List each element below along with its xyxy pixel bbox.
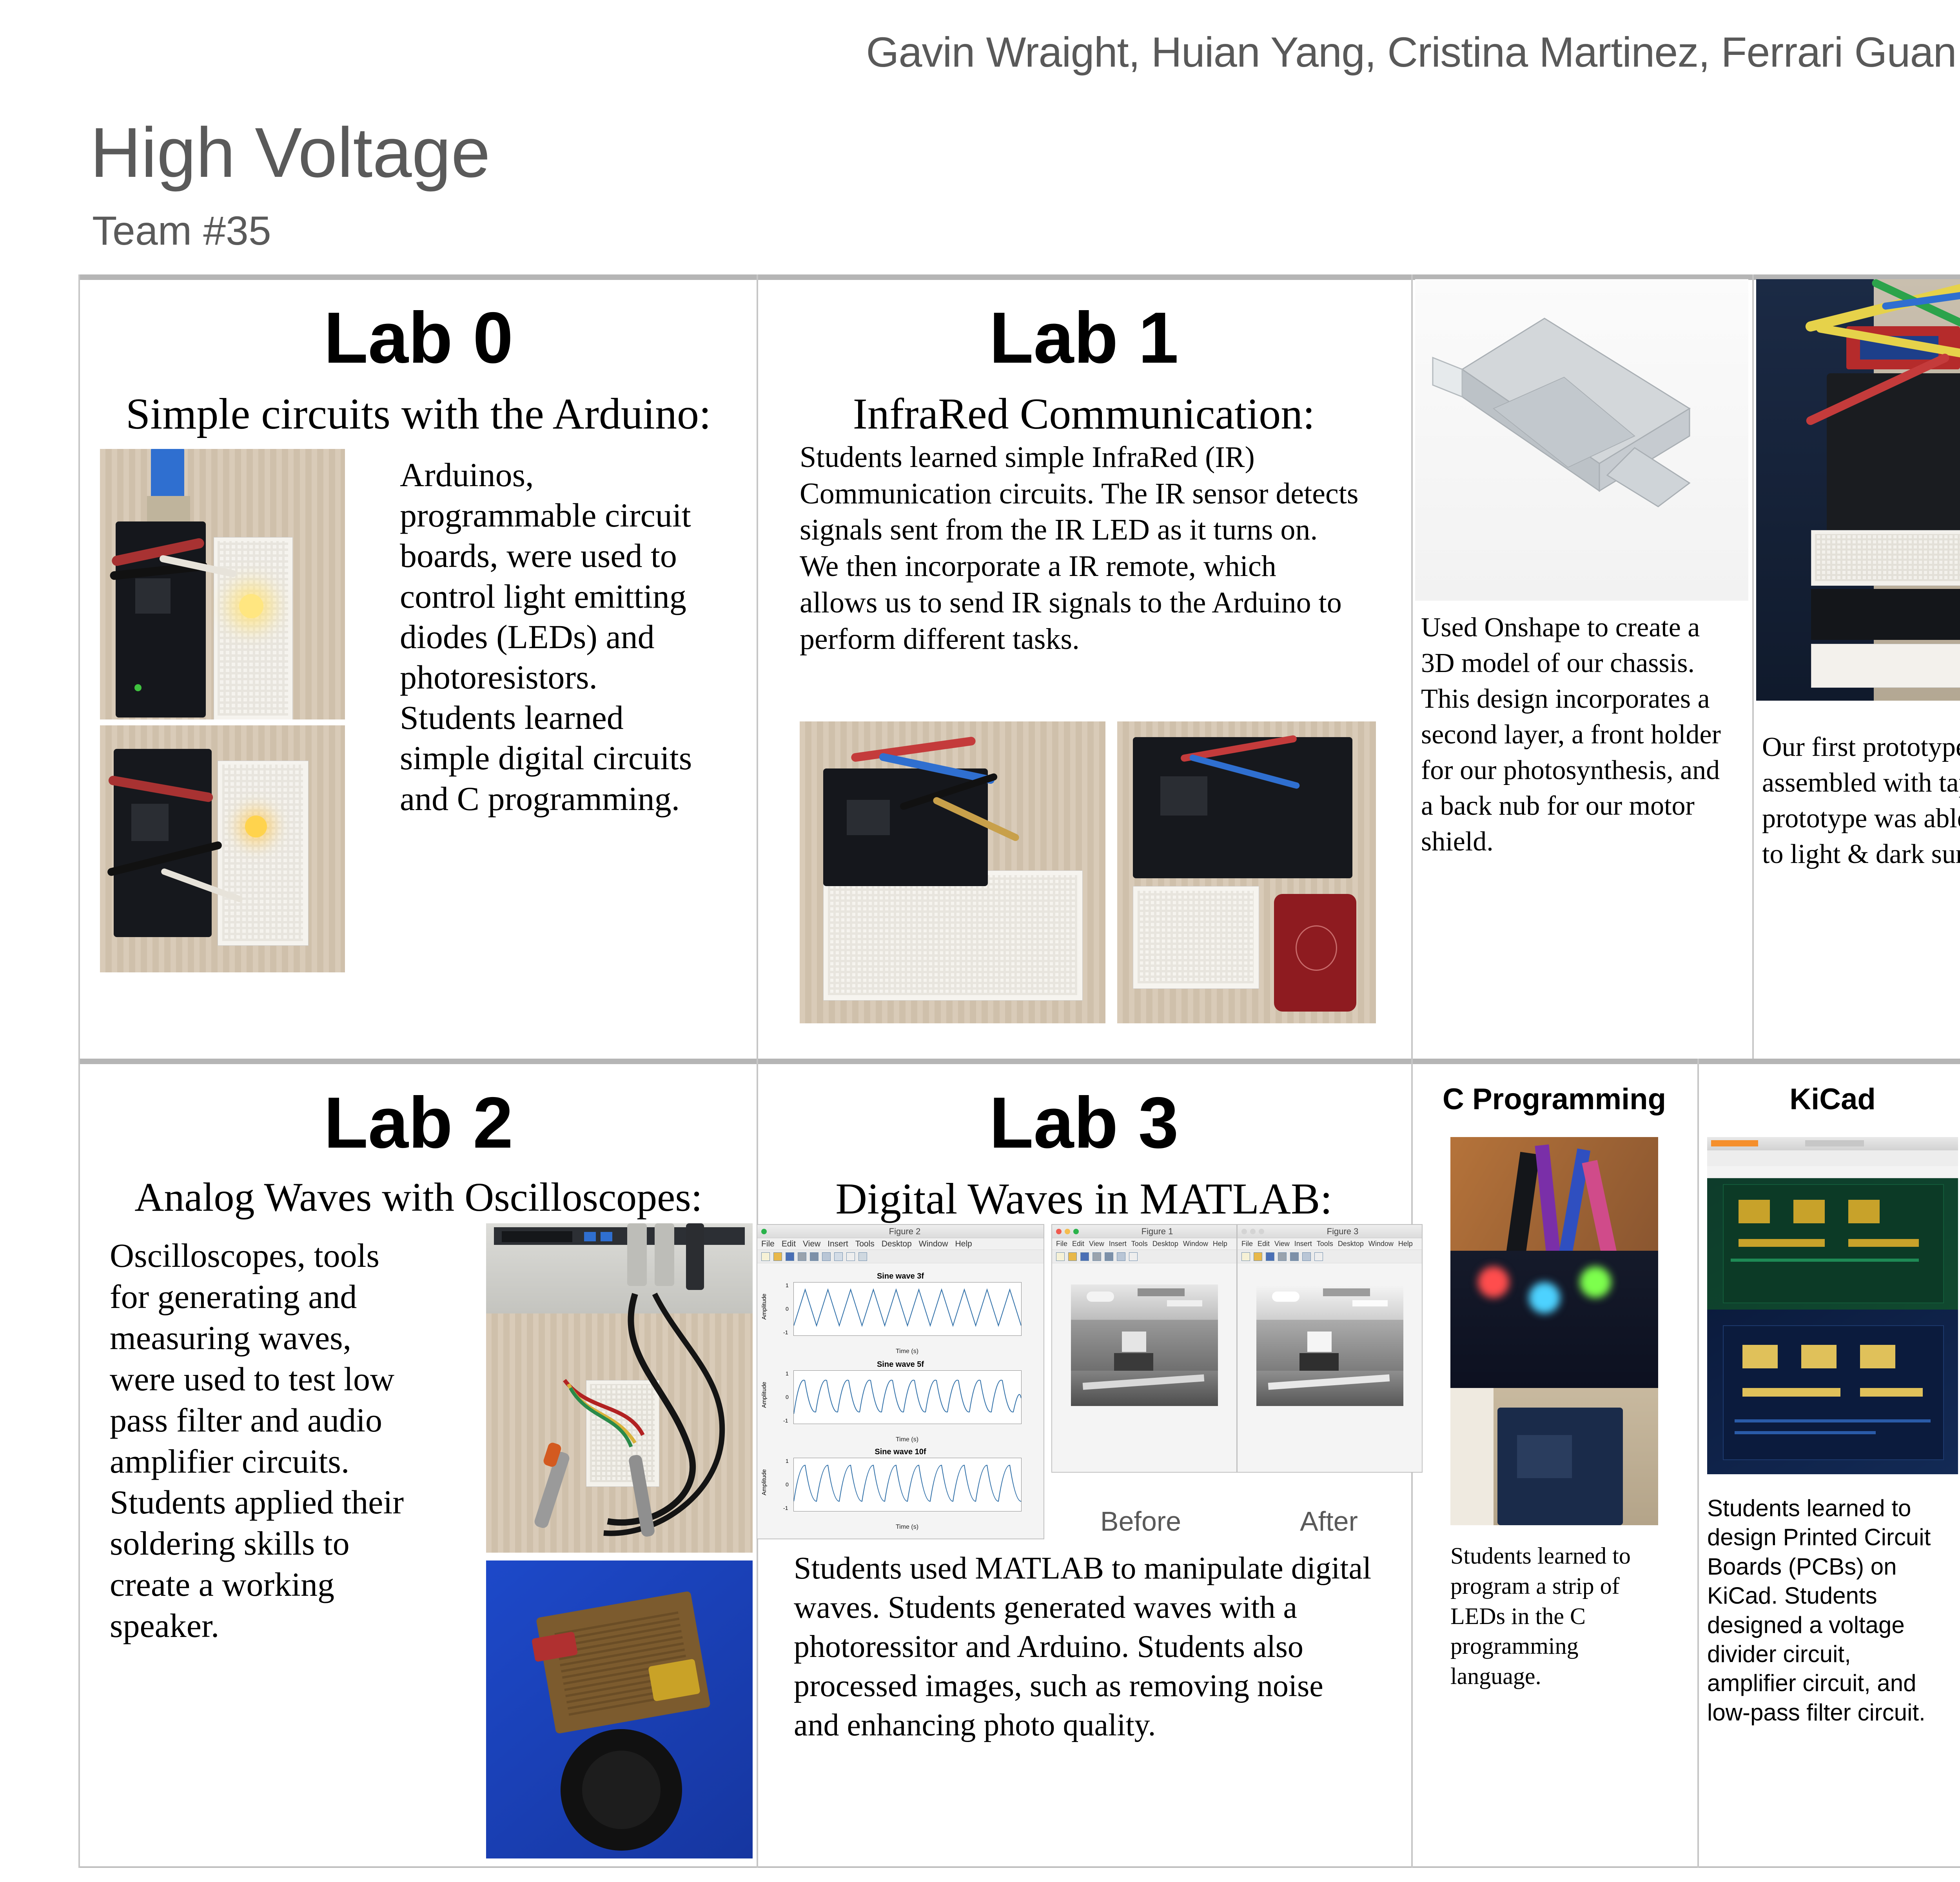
lab2-body: Oscilloscopes, tools for generating and … (110, 1235, 419, 1646)
authors-line: Gavin Wraight, Huian Yang, Cristina Mart… (0, 27, 1960, 76)
page-title: High Voltage (90, 118, 490, 188)
menu-item-insert[interactable]: Insert (1294, 1240, 1312, 1248)
lab3-title: Lab 3 (760, 1087, 1407, 1159)
lab0-body: Arduinos, programmable circuit boards, w… (400, 455, 717, 819)
plot2-xlabel: Time (s) (793, 1436, 1021, 1443)
menu-item-file[interactable]: File (1241, 1240, 1253, 1248)
plot1-xlabel: Time (s) (793, 1348, 1021, 1355)
lab3-subtitle: Digital Waves in MATLAB: (760, 1175, 1407, 1223)
matlab-plot-1: Sine wave 3f Amplitude 1 0 -1 Time (s) (757, 1272, 1044, 1359)
lab3-body: Students used MATLAB to manipulate digit… (794, 1549, 1374, 1745)
matlab-figure2-titlebar: Figure 2 (757, 1225, 1044, 1238)
menu-item-tools[interactable]: Tools (1131, 1240, 1148, 1248)
open-folder-icon[interactable] (1254, 1252, 1262, 1261)
zoom-icon[interactable] (1290, 1252, 1299, 1261)
properties-icon[interactable] (858, 1252, 867, 1261)
menu-item-desktop[interactable]: Desktop (882, 1239, 912, 1249)
window-close-dot[interactable] (1056, 1229, 1062, 1234)
plot2-title: Sine wave 5f (757, 1360, 1044, 1369)
skill-title-c-programming: C Programming (1417, 1082, 1691, 1116)
before-label: Before (1058, 1506, 1223, 1537)
lab0-photo-arduino-led (100, 449, 345, 719)
menu-item-insert[interactable]: Insert (828, 1239, 848, 1249)
skill-photo-led-strip (1450, 1137, 1658, 1525)
lab2-photo-speaker (486, 1560, 753, 1858)
lab0-subtitle: Simple circuits with the Arduino: (82, 390, 755, 438)
plot3-ytick-neg1: -1 (783, 1505, 788, 1511)
menu-item-help[interactable]: Help (955, 1239, 972, 1249)
skill-photo-kicad-board-1 (1707, 1137, 1958, 1310)
plot3-ytick-0: 0 (786, 1481, 789, 1488)
legend-icon[interactable] (1302, 1252, 1311, 1261)
matlab-figure2-title: Figure 2 (770, 1226, 1040, 1237)
plot3-ylabel: Amplitude (761, 1469, 768, 1495)
plot2-axes (793, 1370, 1022, 1424)
window-minimize-dot[interactable] (1250, 1229, 1256, 1234)
new-file-icon[interactable] (1056, 1252, 1065, 1261)
plot1-ytick-neg1: -1 (783, 1329, 788, 1335)
zoom-icon[interactable] (810, 1252, 818, 1261)
lab1-subtitle: InfraRed Communication: (760, 390, 1407, 438)
plot1-axes (793, 1282, 1022, 1336)
plot1-title: Sine wave 3f (757, 1272, 1044, 1281)
menu-item-view[interactable]: View (1089, 1240, 1104, 1248)
window-close-dot[interactable] (1241, 1229, 1247, 1234)
new-file-icon[interactable] (761, 1252, 770, 1261)
matlab-figure3-titlebar: Figure 3 (1238, 1225, 1422, 1238)
menu-item-desktop[interactable]: Desktop (1338, 1240, 1364, 1248)
lab1-photo-ir-circuit (800, 721, 1105, 1023)
plot1-ytick-1: 1 (786, 1282, 789, 1288)
menu-item-desktop[interactable]: Desktop (1152, 1240, 1178, 1248)
matlab-figure2-window[interactable]: Figure 2 File Edit View Insert Tools Des… (757, 1224, 1044, 1539)
lab4-caption-chassis: Used Onshape to create a 3D model of our… (1421, 610, 1735, 859)
plot1-ytick-0: 0 (786, 1306, 789, 1312)
plot3-xlabel: Time (s) (793, 1524, 1021, 1531)
plot2-waveform (794, 1371, 1021, 1424)
lab3-image-before (1071, 1284, 1218, 1406)
menu-item-help[interactable]: Help (1398, 1240, 1413, 1248)
menu-item-help[interactable]: Help (1213, 1240, 1227, 1248)
plot1-ylabel: Amplitude (761, 1293, 768, 1320)
window-close-dot[interactable] (761, 1229, 767, 1234)
save-icon[interactable] (1080, 1252, 1089, 1261)
lab4-divider-1 (1752, 274, 1754, 1059)
skill-photo-kicad-board-2 (1707, 1310, 1958, 1474)
matlab-figure2-toolbar[interactable] (757, 1250, 1044, 1263)
matlab-figure1-titlebar: Figure 1 (1052, 1225, 1236, 1238)
skill-body-kicad: Students learned to design Printed Circu… (1707, 1494, 1946, 1727)
menu-item-edit[interactable]: Edit (1072, 1240, 1084, 1248)
plot2-ytick-1: 1 (786, 1370, 789, 1377)
cursor-icon[interactable] (1129, 1252, 1138, 1261)
window-maximize-dot[interactable] (1073, 1229, 1079, 1234)
matlab-figure1-title: Figure 1 (1082, 1226, 1232, 1237)
cursor-icon[interactable] (846, 1252, 855, 1261)
menu-item-window[interactable]: Window (919, 1239, 948, 1249)
plot3-title: Sine wave 10f (757, 1448, 1044, 1457)
print-icon[interactable] (1093, 1252, 1101, 1261)
plot2-ytick-neg1: -1 (783, 1417, 788, 1424)
matlab-figure3-window[interactable]: Figure 3 File Edit View Insert Tools Des… (1237, 1224, 1423, 1473)
lab0-photo-photoresistor (100, 725, 345, 972)
lab2-title: Lab 2 (82, 1087, 755, 1159)
matlab-figure1-toolbar[interactable] (1052, 1250, 1236, 1263)
matlab-figure1-menubar[interactable]: File Edit View Insert Tools Desktop Wind… (1052, 1238, 1236, 1250)
menu-item-file[interactable]: File (1056, 1240, 1067, 1248)
new-file-icon[interactable] (1241, 1252, 1250, 1261)
legend-icon[interactable] (1117, 1252, 1125, 1261)
after-label: After (1247, 1506, 1411, 1537)
oscilloscope-probe-cables-icon (486, 1286, 753, 1553)
menu-item-insert[interactable]: Insert (1109, 1240, 1127, 1248)
menu-item-edit[interactable]: Edit (1258, 1240, 1270, 1248)
window-maximize-dot[interactable] (1259, 1229, 1264, 1234)
matlab-figure1-window[interactable]: Figure 1 File Edit View Insert Tools Des… (1051, 1224, 1237, 1473)
menu-item-view[interactable]: View (1274, 1240, 1290, 1248)
save-icon[interactable] (786, 1252, 794, 1261)
grid-left-edge (78, 274, 80, 1868)
team-number: Team #35 (92, 208, 271, 254)
open-folder-icon[interactable] (1068, 1252, 1077, 1261)
zoom-icon[interactable] (1105, 1252, 1113, 1261)
matlab-figure3-title: Figure 3 (1267, 1226, 1418, 1237)
matlab-plot-3: Sine wave 10f Amplitude 1 0 -1 Time (s) (757, 1448, 1044, 1539)
print-icon[interactable] (798, 1252, 806, 1261)
lab1-photo-ir-remote (1117, 721, 1376, 1023)
menu-item-view[interactable]: View (803, 1239, 820, 1249)
skill-title-kicad: KiCad (1701, 1082, 1960, 1116)
matlab-figure2-menubar[interactable]: File Edit View Insert Tools Desktop Wind… (757, 1238, 1044, 1250)
plot2-ylabel: Amplitude (761, 1382, 768, 1408)
lab4-subtitle: Robotics: (1764, 208, 1960, 258)
chassis-3d-model-icon (1415, 279, 1748, 601)
matlab-plot-2: Sine wave 5f Amplitude 1 0 -1 Time (s) (757, 1360, 1044, 1447)
menu-item-window[interactable]: Window (1368, 1240, 1394, 1248)
plot1-waveform (794, 1283, 1021, 1335)
colorbar-icon[interactable] (834, 1252, 843, 1261)
menu-item-edit[interactable]: Edit (782, 1239, 796, 1249)
menu-item-window[interactable]: Window (1183, 1240, 1208, 1248)
grid-col1-divider (757, 274, 758, 1868)
lab2-photo-oscilloscope (486, 1223, 753, 1553)
skills-divider-1 (1697, 1059, 1699, 1868)
cursor-icon[interactable] (1314, 1252, 1323, 1261)
save-icon[interactable] (1266, 1252, 1274, 1261)
lab0-title: Lab 0 (82, 302, 755, 374)
plot3-waveform (794, 1458, 1021, 1511)
lab4-caption-prototype: Our first prototype. Semi-assembled with… (1762, 729, 1960, 872)
lab4-photo-first-prototype (1756, 279, 1960, 701)
menu-item-file[interactable]: File (761, 1239, 775, 1249)
print-icon[interactable] (1278, 1252, 1287, 1261)
skill-body-c-programming: Students learned to program a strip of L… (1450, 1541, 1658, 1691)
matlab-figure3-toolbar[interactable] (1238, 1250, 1422, 1263)
lab4-photo-cad-chassis (1415, 279, 1748, 601)
matlab-figure3-menubar[interactable]: File Edit View Insert Tools Desktop Wind… (1238, 1238, 1422, 1250)
plot3-axes (793, 1458, 1022, 1511)
open-folder-icon[interactable] (773, 1252, 782, 1261)
plot3-ytick-1: 1 (786, 1458, 789, 1464)
legend-icon[interactable] (822, 1252, 831, 1261)
lab3-image-after (1256, 1284, 1403, 1406)
window-minimize-dot[interactable] (1065, 1229, 1070, 1234)
menu-item-tools[interactable]: Tools (855, 1239, 875, 1249)
plot2-ytick-0: 0 (786, 1394, 789, 1400)
lab2-subtitle: Analog Waves with Oscilloscopes: (82, 1175, 755, 1220)
grid-col2-divider-top (1411, 274, 1413, 1059)
lab1-title: Lab 1 (760, 302, 1407, 374)
menu-item-tools[interactable]: Tools (1317, 1240, 1333, 1248)
lab4-title: Lab 4 (1764, 125, 1960, 198)
lab1-body: Students learned simple InfraRed (IR) Co… (800, 439, 1360, 657)
